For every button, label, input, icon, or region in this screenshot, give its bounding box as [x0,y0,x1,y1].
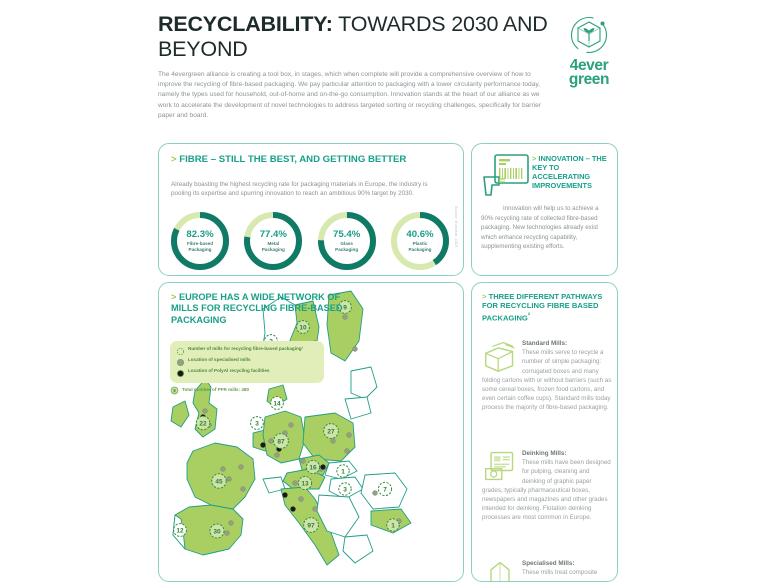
donut-label: Glass Packaging [335,241,358,253]
intro-paragraph: The 4evergreen alliance is creating a to… [158,70,550,121]
donut-chart: 75.4% Glass Packaging [316,210,378,272]
chart-source-note: Source: Eurostat, 2019 [448,206,458,272]
donut-percent: 82.3% [186,230,213,240]
map-marker: 7 [378,482,391,495]
map-marker: 13 [298,476,311,489]
pathways-heading-sup: ² [528,312,530,319]
map-heading: > EUROPE HAS A WIDE NETWORK OF MILLS FOR… [171,292,351,326]
dotted-circle-icon [176,347,185,356]
map-panel: > EUROPE HAS A WIDE NETWORK OF MILLS FOR… [158,282,464,582]
innovation-body: Innovation will help us to achieve a 90%… [481,204,612,252]
donut-label-2: Packaging [335,247,358,252]
map-marker: 97 [304,518,319,533]
chevron-icon: > [482,292,486,301]
donut-label: Plastic Packaging [408,241,431,253]
donut-label-group: 75.4% Glass Packaging [316,210,378,272]
svg-text:97: 97 [307,523,315,530]
mill-specialised: Specialised Mills: These mills treat com… [482,559,613,582]
map-total-label: Total number of PFR mills: 480 [182,387,249,393]
donut-label-group: 40.6% Plastic Packaging [389,210,451,272]
legend-item: Number of mills for recycling fibre-base… [176,346,318,356]
map-marker: 87 [274,434,289,449]
map-heading-text: EUROPE HAS A WIDE NETWORK OF MILLS FOR R… [171,292,343,325]
donut-label-1: Plastic [413,241,428,246]
map-marker: 22 [196,416,210,430]
map-marker: 12 [174,524,187,537]
donut-label-group: 82.3% Fibre-based Packaging [169,210,231,272]
legend-item: Location of PolyAl recycling facilities [176,368,318,378]
map-marker: 1 [337,465,349,477]
mill-circle-icon [170,386,179,395]
fibre-heading-text: FIBRE – STILL THE BEST, AND GETTING BETT… [179,154,406,165]
header: RECYCLABILITY: TOWARDS 2030 AND BEYOND [158,12,618,62]
donut-label-1: Fibre-based [187,241,213,246]
donut-label-1: Metal [267,241,279,246]
svg-text:1: 1 [391,522,395,529]
chevron-icon: > [532,154,536,163]
black-dot-icon [176,369,185,378]
donut-label-2: Packaging [408,247,431,252]
mill-deinking: Deinking Mills: These mills have been de… [482,449,613,523]
donut-percent: 77.4% [260,230,287,240]
innovation-heading-text: INNOVATION – THE KEY TO ACCELERATING IMP… [532,154,607,190]
donut-label-1: Glass [340,241,353,246]
donut-chart: 77.4% Metal Packaging [242,210,304,272]
chevron-icon: > [171,154,177,165]
donut-chart: 40.6% Plastic Packaging [389,210,451,272]
donut-chart: 82.3% Fibre-based Packaging [169,210,231,272]
fibre-panel-heading: > FIBRE – STILL THE BEST, AND GETTING BE… [171,154,441,166]
grey-dot-icon [176,358,185,367]
pathways-panel: > THREE DIFFERENT PATHWAYS FOR RECYCLING… [471,282,618,582]
page-title: RECYCLABILITY: TOWARDS 2030 AND BEYOND [158,12,618,62]
map-marker: 1 [387,519,399,531]
beverage-carton-icon [482,559,518,582]
map-marker: 45 [212,474,226,488]
svg-text:22: 22 [199,420,207,427]
legend-label: Location of specialised mills [188,357,251,363]
donut-label: Metal Packaging [262,241,285,253]
map-marker: 30 [210,524,224,538]
map-total-row: Total number of PFR mills: 480 [170,385,249,395]
donut-percent: 40.6% [406,230,433,240]
cube-leaf-logo-icon [567,14,611,58]
donut-label: Fibre-based Packaging [187,241,213,253]
fibre-panel: > FIBRE – STILL THE BEST, AND GETTING BE… [158,143,464,276]
donut-chart-group: 82.3% Fibre-based Packaging 77.4% Metal [169,210,451,272]
map-marker: 27 [324,424,339,439]
svg-text:27: 27 [327,429,335,436]
europe-map: 9 10 2 14 22 [159,283,464,582]
legend-label: Location of PolyAl recycling facilities [188,368,269,374]
logo-line-2: green [558,73,620,87]
svg-text:12: 12 [176,527,184,534]
svg-text:45: 45 [215,479,223,486]
map-marker: 3 [251,417,264,430]
svg-text:3: 3 [343,486,347,493]
svg-text:13: 13 [301,480,309,487]
legend-item: Location of specialised mills [176,357,318,367]
svg-text:1: 1 [341,468,345,475]
donut-label-2: Packaging [262,247,285,252]
logo: 4ever green [558,14,620,87]
mill-standard: Standard Mills: These mills serve to rec… [482,339,613,413]
carton-box-icon [482,339,518,373]
title-bold: RECYCLABILITY: [158,12,333,36]
barcode-scanner-icon [481,153,533,201]
svg-text:87: 87 [277,439,285,446]
svg-text:7: 7 [383,486,387,493]
donut-label-2: Packaging [189,247,212,252]
fibre-panel-body: Already boasting the highest recycling r… [171,180,439,199]
donut-percent: 75.4% [333,230,360,240]
newspaper-print-icon [482,449,518,483]
innovation-panel: > INNOVATION – THE KEY TO ACCELERATING I… [471,143,618,276]
map-marker: 3 [339,483,351,495]
svg-text:16: 16 [309,464,317,471]
pathways-heading: > THREE DIFFERENT PATHWAYS FOR RECYCLING… [482,292,612,323]
donut-label-group: 77.4% Metal Packaging [242,210,304,272]
svg-text:14: 14 [273,400,281,407]
legend-label: Number of mills for recycling fibre-base… [188,346,303,352]
svg-text:3: 3 [255,420,259,427]
logo-wordmark: 4ever green [558,59,620,87]
infographic-page: RECYCLABILITY: TOWARDS 2030 AND BEYOND T… [0,0,768,574]
map-marker: 16 [306,460,319,473]
svg-text:30: 30 [213,528,221,535]
pathways-heading-text: THREE DIFFERENT PATHWAYS FOR RECYCLING F… [482,292,602,322]
map-marker: 14 [271,397,284,410]
innovation-heading: > INNOVATION – THE KEY TO ACCELERATING I… [532,154,616,190]
chevron-icon: > [171,292,176,302]
map-legend: Number of mills for recycling fibre-base… [170,341,324,383]
